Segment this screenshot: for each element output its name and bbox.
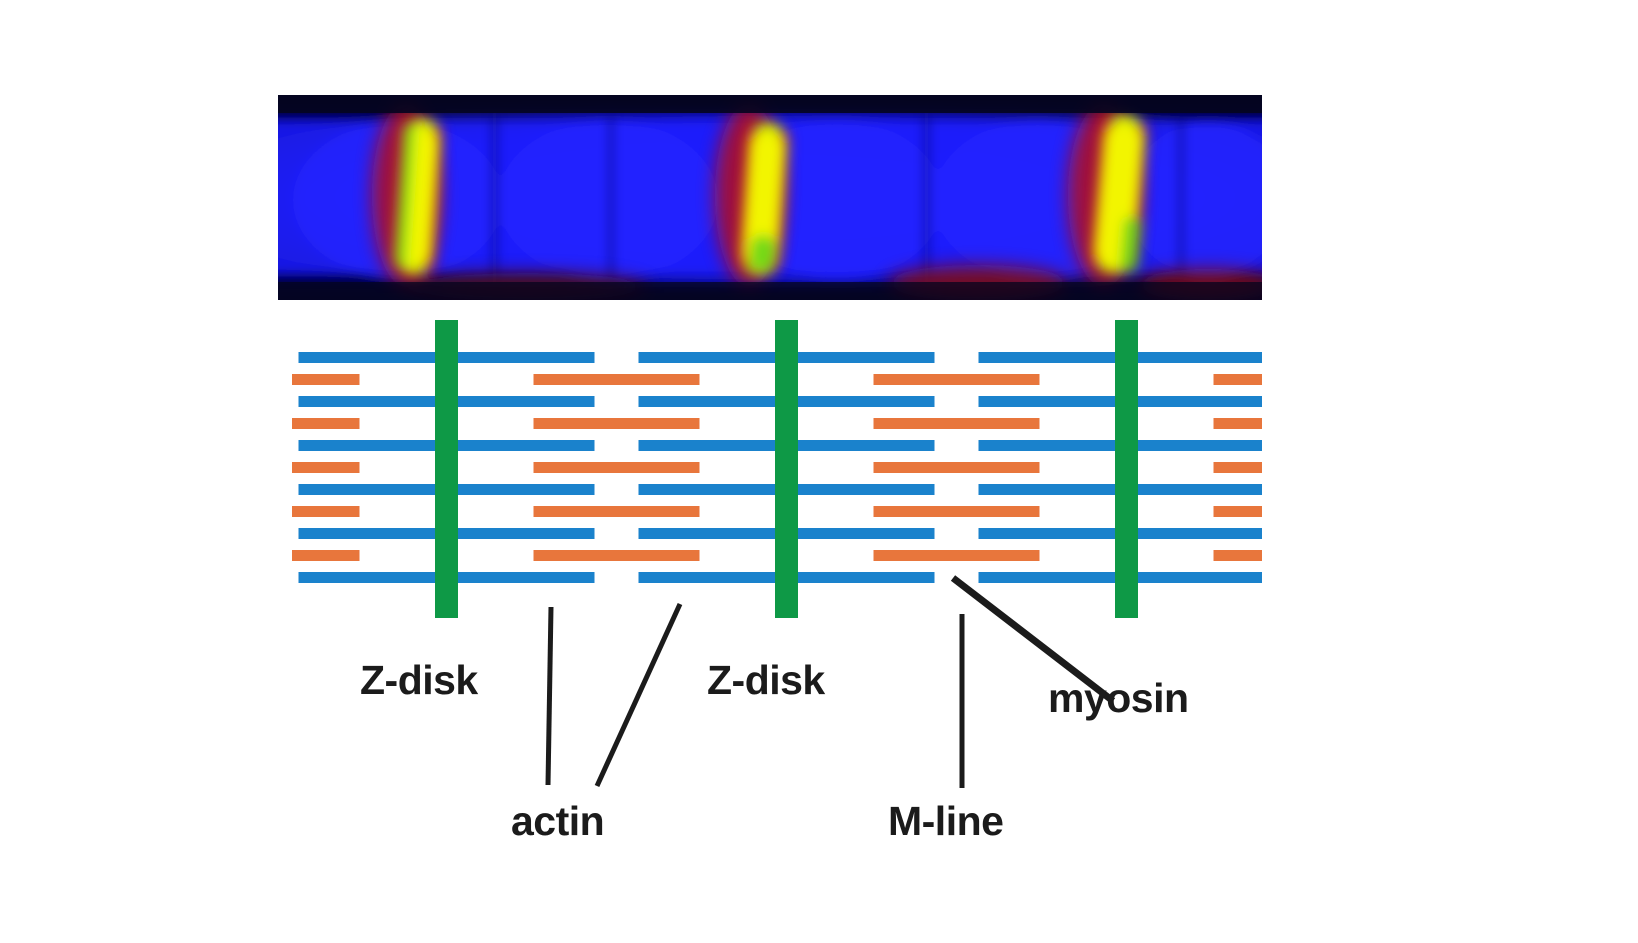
z-disk-1	[435, 320, 458, 618]
myosin-filament	[534, 550, 700, 561]
myosin-filament	[534, 506, 700, 517]
myosin-filament	[1214, 550, 1263, 561]
myosin-filament	[1214, 374, 1263, 385]
myosin-filament	[534, 462, 700, 473]
myosin-filament	[292, 374, 360, 385]
actin-leader-vertical	[548, 607, 551, 785]
myosin-filament	[1214, 506, 1263, 517]
myosin-filament	[874, 462, 1040, 473]
myosin-filament	[534, 374, 700, 385]
label-mline: M-line	[888, 798, 1003, 845]
myosin-filament	[1214, 418, 1263, 429]
label-zdisk-right: Z-disk	[707, 657, 825, 704]
myosin-filament	[292, 550, 360, 561]
myosin-filament	[874, 550, 1040, 561]
myosin-filament	[292, 506, 360, 517]
figure-canvas: Z-disk Z-disk actin M-line myosin	[0, 0, 1638, 943]
myosin-filament	[874, 418, 1040, 429]
sarcomere-schematic	[0, 0, 1638, 943]
myosin-filament	[292, 418, 360, 429]
schematic-canvas	[0, 0, 1638, 943]
z-disk-2	[775, 320, 798, 618]
myosin-filament	[874, 374, 1040, 385]
label-myosin: myosin	[1048, 675, 1189, 722]
label-zdisk-left: Z-disk	[360, 657, 478, 704]
z-disk-3	[1115, 320, 1138, 618]
myosin-filament	[1214, 462, 1263, 473]
myosin-filament	[534, 418, 700, 429]
myosin-filament	[874, 506, 1040, 517]
actin-leader-diagonal	[597, 604, 680, 786]
myosin-filament	[292, 462, 360, 473]
label-actin: actin	[511, 798, 604, 845]
leader-line-layer	[548, 578, 1113, 788]
